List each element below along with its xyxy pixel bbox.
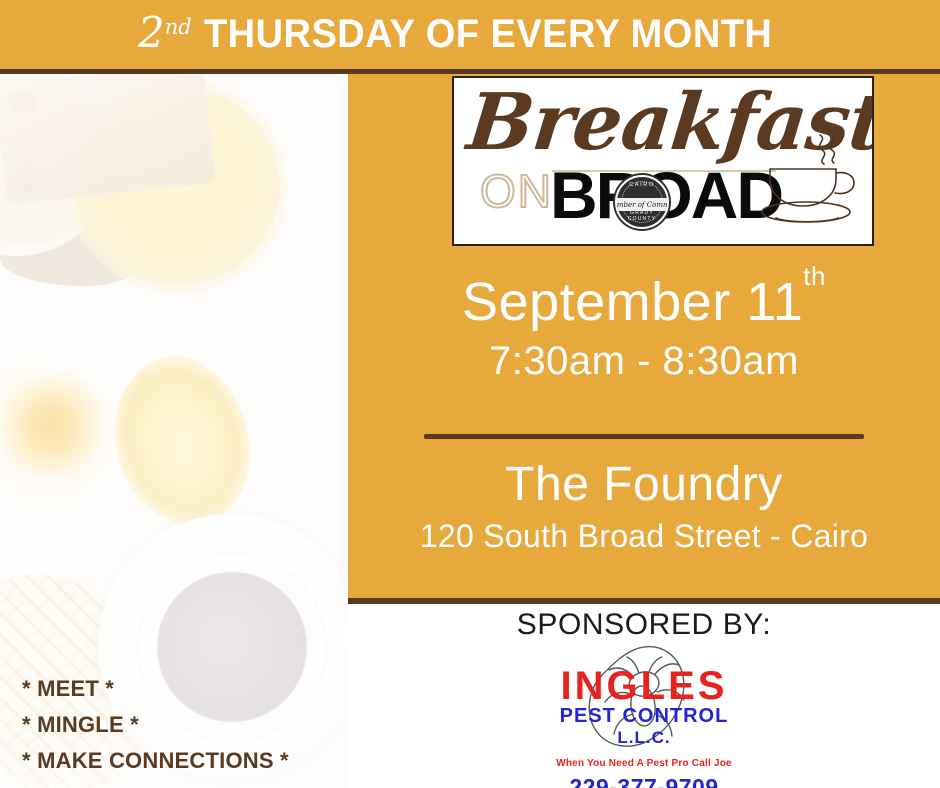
section-divider-rule <box>424 434 864 439</box>
event-venue-block: The Foundry 120 South Broad Street - Cai… <box>348 459 940 559</box>
lemon-slice-image <box>93 340 271 542</box>
ingles-pest-control-logo: INGLES PEST CONTROL L.L.C. When You Need… <box>524 644 764 788</box>
banner-headline: 2ndTHURSDAY OF EVERY MONTH <box>138 12 802 57</box>
event-date: September 11th <box>348 274 940 331</box>
ingles-brand-name: INGLES <box>524 666 764 706</box>
event-date-block: September 11th 7:30am - 8:30am <box>348 274 940 387</box>
fried-egg-image <box>0 364 118 514</box>
logo-word-on: ON <box>480 164 553 218</box>
sponsor-section: SPONSORED BY: INGLES PEST CON <box>348 604 940 788</box>
venue-address: 120 South Broad Street - Cairo <box>348 514 940 559</box>
event-date-suffix: th <box>803 261 826 291</box>
banner-ordinal-suffix: nd <box>165 15 192 39</box>
seal-bottom-text: GRADY COUNTY <box>617 210 667 222</box>
bullet-item-meet: * MEET * <box>22 676 289 702</box>
ingles-phone-number: 229-377-9709 <box>524 774 764 788</box>
breakfast-photo-panel: * MEET * * MINGLE * * MAKE CONNECTIONS * <box>0 74 348 788</box>
breakfast-on-broad-logo: ON Breakfast BROAD CAIRO Chamber of Comm… <box>452 76 874 246</box>
ingles-subtitle: PEST CONTROL <box>524 706 764 726</box>
venue-name: The Foundry <box>348 459 940 512</box>
bullet-item-make-connections: * MAKE CONNECTIONS * <box>22 748 289 774</box>
event-time: 7:30am - 8:30am <box>348 335 940 387</box>
bread-slice-image <box>0 74 216 205</box>
ingles-entity-type: L.L.C. <box>524 729 764 746</box>
coffee-cup-icon <box>754 132 860 228</box>
event-date-text: September 11 <box>462 272 803 332</box>
banner-ordinal-number: 2 <box>138 12 165 54</box>
top-banner: 2ndTHURSDAY OF EVERY MONTH <box>0 0 940 69</box>
bullet-item-mingle: * MINGLE * <box>22 712 289 738</box>
chamber-of-commerce-seal-icon: CAIRO Chamber of Commerce GRADY COUNTY <box>615 175 669 229</box>
ingles-tagline: When You Need A Pest Pro Call Joe <box>524 758 764 769</box>
sponsored-by-label: SPONSORED BY: <box>348 608 940 642</box>
event-flyer: 2ndTHURSDAY OF EVERY MONTH * MEET * * MI… <box>0 0 940 788</box>
event-details-panel: ON Breakfast BROAD CAIRO Chamber of Comm… <box>348 74 940 598</box>
bullet-list: * MEET * * MINGLE * * MAKE CONNECTIONS * <box>22 676 289 774</box>
banner-headline-text: THURSDAY OF EVERY MONTH <box>204 12 772 57</box>
seal-banner-text: Chamber of Commerce <box>615 201 669 209</box>
seal-top-text: CAIRO <box>617 182 667 188</box>
